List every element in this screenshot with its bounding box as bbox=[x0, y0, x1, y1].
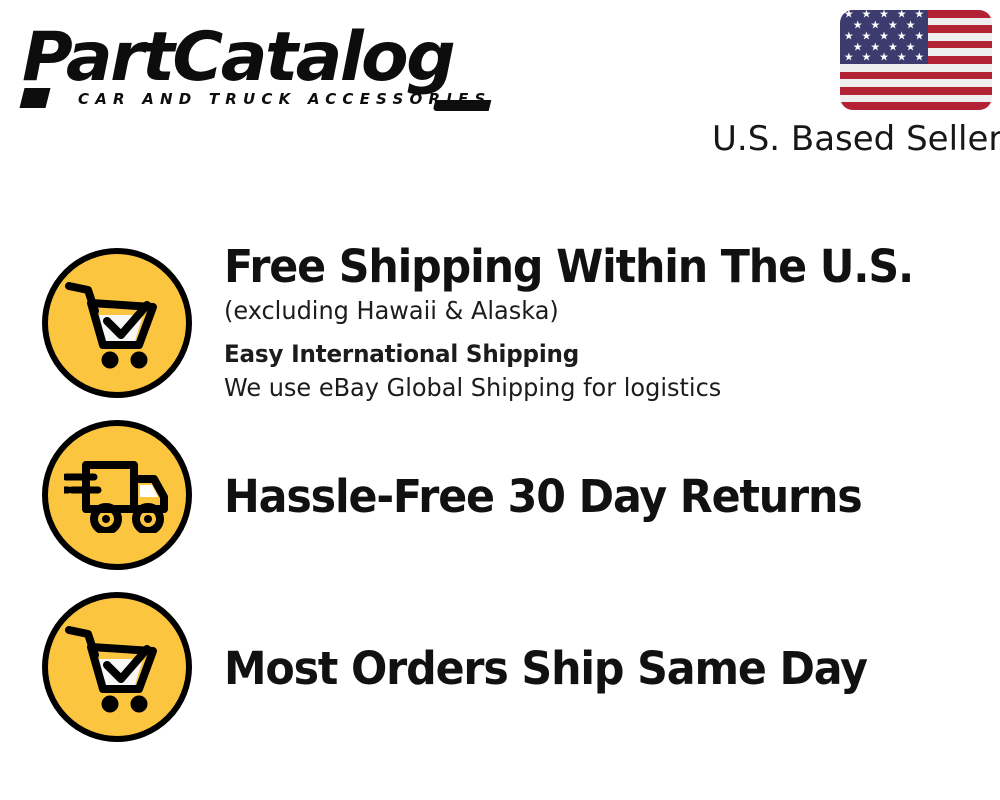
feature-subtext: We use eBay Global Shipping for logistic… bbox=[224, 371, 969, 405]
us-flag-icon: ★★★★★★★★★★★★★★★★★★★★★★★ bbox=[840, 10, 992, 110]
feature-row: Hassle-Free 30 Day Returns bbox=[0, 408, 1000, 580]
brand-logo: PartCatalog CAR AND TRUCK ACCESSORIES bbox=[22, 22, 492, 122]
logo-swash-left-icon bbox=[20, 88, 51, 108]
flag-star-icon: ★ bbox=[879, 53, 889, 64]
brand-logo-wordmark: PartCatalog bbox=[22, 22, 501, 94]
flag-stripe bbox=[840, 79, 992, 87]
flag-stripe bbox=[840, 87, 992, 95]
feature-headline: Most Orders Ship Same Day bbox=[224, 642, 961, 696]
flag-stripe bbox=[840, 95, 992, 103]
brand-logo-tagline-row: CAR AND TRUCK ACCESSORIES bbox=[22, 90, 492, 116]
shopping-cart-check-icon bbox=[42, 248, 192, 398]
flag-star-icon: ★ bbox=[844, 53, 854, 64]
feature-icon-wrapper bbox=[42, 248, 192, 398]
spacer bbox=[224, 328, 1000, 337]
us-based-seller-badge: ★★★★★★★★★★★★★★★★★★★★★★★ U.S. Based Selle… bbox=[712, 10, 992, 159]
feature-icon-wrapper bbox=[42, 420, 192, 570]
flag-stripe bbox=[840, 102, 992, 110]
us-based-seller-label: U.S. Based Seller bbox=[712, 119, 992, 159]
shopping-cart-check-icon-glyph bbox=[65, 621, 169, 713]
logo-swash-right-icon bbox=[433, 100, 492, 111]
feature-text-block: Most Orders Ship Same Day bbox=[192, 580, 1000, 696]
flag-star-icon: ★ bbox=[897, 53, 907, 64]
shopping-cart-check-icon bbox=[42, 592, 192, 742]
feature-icon-wrapper bbox=[42, 592, 192, 742]
feature-row: Free Shipping Within The U.S.(excluding … bbox=[0, 236, 1000, 408]
flag-canton: ★★★★★★★★★★★★★★★★★★★★★★★ bbox=[840, 10, 928, 64]
flag-star-icon: ★ bbox=[914, 53, 924, 64]
delivery-truck-icon-glyph bbox=[64, 457, 170, 533]
promo-banner: PartCatalog CAR AND TRUCK ACCESSORIES ★★… bbox=[0, 0, 1000, 800]
flag-stars: ★★★★★★★★★★★★★★★★★★★★★★★ bbox=[840, 10, 928, 64]
flag-stripe bbox=[840, 72, 992, 80]
brand-logo-tagline: CAR AND TRUCK ACCESSORIES bbox=[78, 90, 491, 108]
feature-text-block: Free Shipping Within The U.S.(excluding … bbox=[192, 236, 1000, 405]
flag-star-icon: ★ bbox=[914, 31, 924, 42]
shopping-cart-check-icon-glyph bbox=[65, 277, 169, 369]
feature-subheading: Easy International Shipping bbox=[224, 337, 969, 371]
feature-headline: Free Shipping Within The U.S. bbox=[224, 240, 961, 294]
feature-headline: Hassle-Free 30 Day Returns bbox=[224, 470, 961, 524]
feature-list: Free Shipping Within The U.S.(excluding … bbox=[0, 236, 1000, 752]
feature-row: Most Orders Ship Same Day bbox=[0, 580, 1000, 752]
flag-stripe bbox=[840, 64, 992, 72]
feature-subtext: (excluding Hawaii & Alaska) bbox=[224, 294, 969, 328]
flag-star-icon: ★ bbox=[862, 53, 872, 64]
delivery-truck-icon bbox=[42, 420, 192, 570]
flag-star-icon: ★ bbox=[914, 10, 924, 21]
feature-text-block: Hassle-Free 30 Day Returns bbox=[192, 408, 1000, 524]
